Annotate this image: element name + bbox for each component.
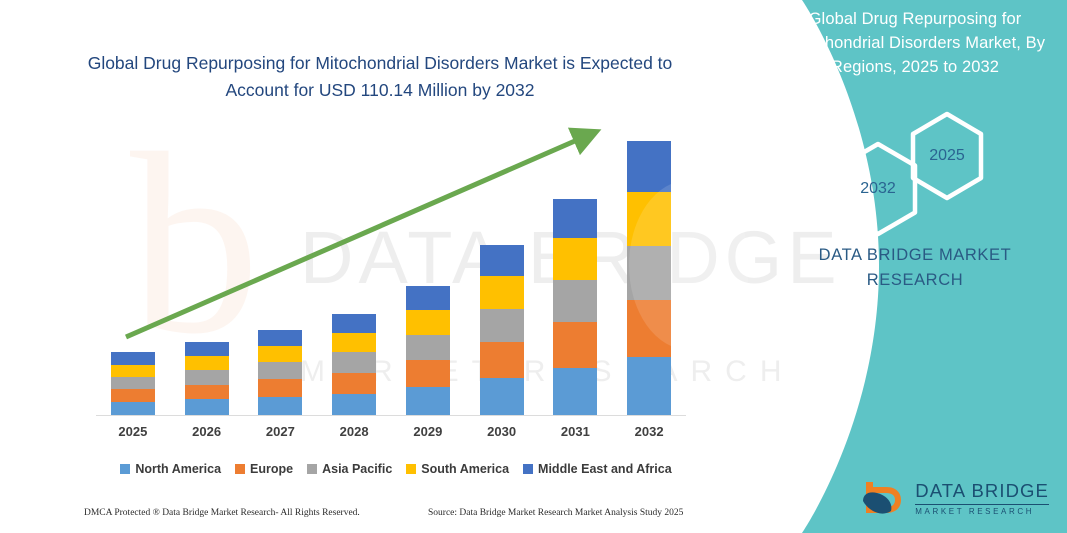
- bar-segment: [185, 399, 229, 415]
- decorative-circle: [629, 180, 749, 350]
- bar-segment: [480, 245, 524, 276]
- legend-label: South America: [421, 462, 509, 476]
- bar-segment: [111, 365, 155, 377]
- bar-segment: [480, 378, 524, 415]
- bar-2025: [111, 352, 155, 415]
- hexagon-2025-label: 2025: [907, 110, 987, 202]
- logo-text: DATA BRIDGE MARKET RESEARCH: [915, 482, 1049, 516]
- bar-segment: [258, 362, 302, 379]
- bar-segment: [185, 342, 229, 355]
- bar-segment: [258, 379, 302, 397]
- bar-segment: [627, 357, 671, 415]
- bar-segment: [185, 356, 229, 371]
- stacked-bar-plot: [96, 115, 686, 415]
- legend-item-europe[interactable]: Europe: [235, 462, 293, 476]
- bar-segment: [406, 387, 450, 415]
- legend-item-asia-pacific[interactable]: Asia Pacific: [307, 462, 392, 476]
- bar-2030: [480, 245, 524, 415]
- bar-segment: [332, 333, 376, 352]
- data-bridge-logo: DATA BRIDGE MARKET RESEARCH: [860, 479, 1049, 519]
- footer-copyright: DMCA Protected ® Data Bridge Market Rese…: [84, 508, 360, 518]
- x-axis-labels: 20252026202720282029203020312032: [96, 424, 686, 448]
- bar-segment: [553, 322, 597, 368]
- legend-item-middle-east-and-africa[interactable]: Middle East and Africa: [523, 462, 672, 476]
- x-label-2032: 2032: [614, 424, 684, 439]
- legend-swatch: [406, 464, 416, 474]
- bar-segment: [185, 385, 229, 400]
- bar-2026: [185, 342, 229, 415]
- chart-legend: North AmericaEuropeAsia PacificSouth Ame…: [96, 459, 696, 479]
- bar-segment: [406, 335, 450, 361]
- logo-main-text: DATA BRIDGE: [915, 482, 1049, 501]
- bar-segment: [553, 368, 597, 415]
- bar-segment: [332, 314, 376, 333]
- footer: DMCA Protected ® Data Bridge Market Rese…: [0, 508, 770, 530]
- legend-swatch: [120, 464, 130, 474]
- brand-line-1: DATA BRIDGE MARKET: [785, 243, 1045, 268]
- bar-segment: [185, 370, 229, 385]
- legend-swatch: [523, 464, 533, 474]
- bar-segment: [406, 310, 450, 335]
- bar-segment: [480, 276, 524, 308]
- bar-2031: [553, 199, 597, 415]
- logo-sub-text: MARKET RESEARCH: [915, 508, 1049, 516]
- x-label-2027: 2027: [245, 424, 315, 439]
- legend-label: Europe: [250, 462, 293, 476]
- legend-label: Asia Pacific: [322, 462, 392, 476]
- legend-swatch: [235, 464, 245, 474]
- bar-segment: [258, 346, 302, 363]
- legend-label: North America: [135, 462, 221, 476]
- chart-title: Global Drug Repurposing for Mitochondria…: [60, 50, 700, 104]
- infographic-root: b DATA BRIDGE MARKET RESEARCH Global Dru…: [0, 0, 1067, 533]
- x-label-2028: 2028: [319, 424, 389, 439]
- legend-label: Middle East and Africa: [538, 462, 672, 476]
- brand-line-2: RESEARCH: [785, 268, 1045, 293]
- bar-segment: [553, 280, 597, 322]
- x-label-2030: 2030: [467, 424, 537, 439]
- data-bridge-mark-icon: [860, 479, 906, 519]
- legend-item-north-america[interactable]: North America: [120, 462, 221, 476]
- bar-segment: [111, 402, 155, 415]
- right-panel-title: Global Drug Repurposing for Mitochondria…: [781, 8, 1049, 80]
- bar-2029: [406, 286, 450, 415]
- bar-segment: [332, 352, 376, 372]
- bar-2027: [258, 330, 302, 415]
- brand-center-text: DATA BRIDGE MARKET RESEARCH: [785, 243, 1045, 293]
- bar-segment: [332, 394, 376, 415]
- bar-2028: [332, 314, 376, 415]
- bar-segment: [111, 389, 155, 401]
- bar-segment: [111, 377, 155, 389]
- bar-segment: [332, 373, 376, 394]
- legend-item-south-america[interactable]: South America: [406, 462, 509, 476]
- x-label-2031: 2031: [540, 424, 610, 439]
- x-label-2029: 2029: [393, 424, 463, 439]
- hexagon-2025: 2025: [907, 110, 987, 202]
- bar-segment: [258, 397, 302, 415]
- legend-swatch: [307, 464, 317, 474]
- x-axis-line: [96, 415, 686, 416]
- bar-segment: [480, 309, 524, 343]
- footer-source: Source: Data Bridge Market Research Mark…: [428, 508, 683, 518]
- bar-segment: [406, 286, 450, 309]
- bar-segment: [111, 352, 155, 364]
- bar-segment: [553, 199, 597, 238]
- x-label-2025: 2025: [98, 424, 168, 439]
- bar-segment: [553, 238, 597, 279]
- bar-segment: [480, 342, 524, 378]
- bar-segment: [406, 360, 450, 387]
- bar-segment: [627, 141, 671, 192]
- x-label-2026: 2026: [172, 424, 242, 439]
- logo-divider: [915, 504, 1049, 505]
- bar-segment: [258, 330, 302, 346]
